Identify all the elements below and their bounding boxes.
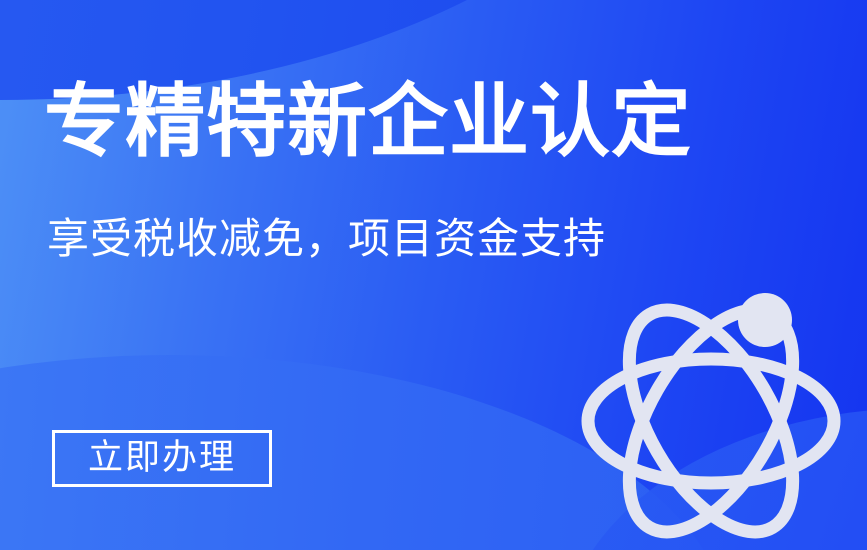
banner-content: 专精特新企业认定 享受税收减免，项目资金支持 立即办理 [0,0,867,550]
apply-now-button[interactable]: 立即办理 [52,430,272,487]
page-title: 专精特新企业认定 [44,82,692,162]
promo-banner: 专精特新企业认定 享受税收减免，项目资金支持 立即办理 [0,0,867,550]
banner-subtitle: 享受税收减免，项目资金支持 [47,216,606,262]
